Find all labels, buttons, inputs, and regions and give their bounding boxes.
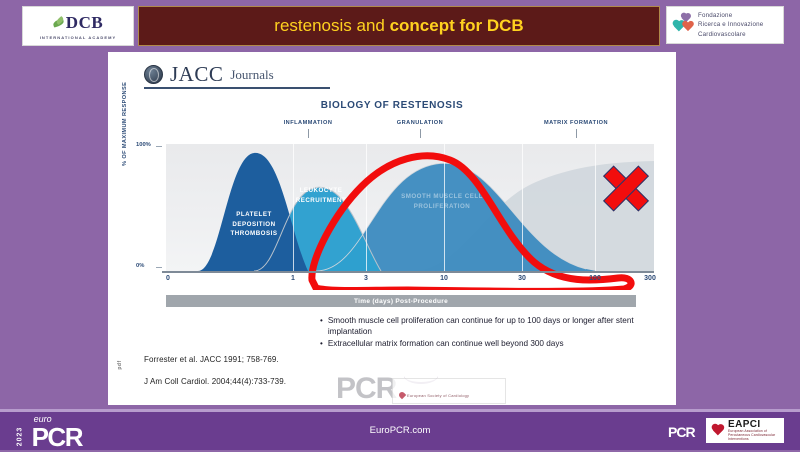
eapci-text: EAPCI European Association of Percutaneo… bbox=[728, 419, 784, 441]
curve-label-platelet: PLATELET DEPOSITION THROMBOSIS bbox=[212, 210, 296, 239]
fondazione-line-2: Ricerca e Innovazione bbox=[698, 20, 763, 29]
dcb-logo-text: DCB bbox=[66, 13, 103, 33]
footer-bar: 2023 euro PCR EuroPCR.com PCR EAPCI Euro… bbox=[0, 412, 800, 450]
phase-label-inflammation: INFLAMMATION bbox=[284, 120, 333, 126]
list-item: • Extracellular matrix formation can con… bbox=[320, 339, 650, 350]
phase-label-granulation: GRANULATION bbox=[397, 120, 443, 126]
y-tick-100: 100% bbox=[136, 142, 151, 148]
x-tick-0: 0 bbox=[166, 275, 170, 282]
phase-stem-granulation bbox=[420, 129, 421, 138]
esc-watermark: European Society of Cardiology bbox=[392, 378, 506, 404]
header-band: DCB INTERNATIONAL ACADEMY restenosis and… bbox=[0, 0, 800, 50]
fondazione-line-1: Fondazione bbox=[698, 11, 763, 20]
phase-label-matrix-formation: MATRIX FORMATION bbox=[544, 120, 608, 126]
fondazione-logo: Fondazione Ricerca e Innovazione Cardiov… bbox=[666, 6, 784, 44]
x-axis-title-bar: Time (days) Post-Procedure bbox=[166, 295, 636, 307]
slide-page: DCB INTERNATIONAL ACADEMY restenosis and… bbox=[0, 0, 800, 450]
x-tick-30: 30 bbox=[518, 275, 526, 282]
dcb-logo-subtitle: INTERNATIONAL ACADEMY bbox=[40, 35, 117, 40]
leaf-icon bbox=[53, 18, 65, 28]
globe-icon bbox=[144, 65, 163, 84]
x-tick-300: 300 bbox=[644, 275, 656, 282]
title-bold: concept for DCB bbox=[390, 16, 524, 35]
bullet-text: Extracellular matrix formation can conti… bbox=[328, 339, 564, 350]
eapci-subtitle: European Association of Percutaneous Car… bbox=[728, 430, 784, 441]
chart-figure: % OF MAXIMUM RESPONSE 100% 0% INFLAMMATI… bbox=[126, 130, 660, 305]
slide-title-bar: restenosis and concept for DCB bbox=[138, 6, 660, 46]
dcb-academy-logo: DCB INTERNATIONAL ACADEMY bbox=[22, 6, 134, 46]
fondazione-logo-text: Fondazione Ricerca e Innovazione Cardiov… bbox=[698, 11, 763, 39]
x-tick-3: 3 bbox=[364, 275, 368, 282]
phase-stem-inflammation bbox=[308, 129, 309, 138]
page-title: restenosis and concept for DCB bbox=[274, 16, 523, 36]
heart-icon bbox=[398, 391, 406, 399]
y-tick-0: 0% bbox=[136, 263, 144, 269]
bullet-list: • Smooth muscle cell proliferation can c… bbox=[320, 316, 650, 351]
y-tick-dash-top bbox=[156, 146, 162, 147]
pdf-watermark: pdf bbox=[117, 357, 143, 373]
citation-1: Forrester et al. JACC 1991; 758-769. bbox=[144, 355, 279, 364]
jacc-journals-brand: JACC Journals bbox=[144, 62, 274, 87]
heart-icon bbox=[711, 424, 724, 437]
bullet-text: Smooth muscle cell proliferation can con… bbox=[328, 316, 650, 338]
jacc-brand-sub: Journals bbox=[230, 67, 273, 83]
plot-area: PLATELET DEPOSITION THROMBOSIS LEUKOCYTE… bbox=[166, 144, 654, 271]
list-item: • Smooth muscle cell proliferation can c… bbox=[320, 316, 650, 338]
right-margin bbox=[676, 50, 800, 412]
x-tick-100: 100 bbox=[589, 275, 601, 282]
y-tick-dash-bottom bbox=[156, 267, 162, 268]
x-axis-title: Time (days) Post-Procedure bbox=[354, 298, 448, 305]
bullet-dot-icon: • bbox=[320, 316, 323, 338]
dcb-logo-row: DCB bbox=[53, 13, 103, 33]
phase-stem-matrix-formation bbox=[576, 129, 577, 138]
eapci-logo: EAPCI European Association of Percutaneo… bbox=[706, 418, 784, 443]
left-margin bbox=[0, 50, 108, 412]
x-tick-1: 1 bbox=[291, 275, 295, 282]
x-tick-10: 10 bbox=[440, 275, 448, 282]
fondazione-line-3: Cardiovascolare bbox=[698, 30, 763, 39]
pcr-small-logo: PCR bbox=[668, 424, 695, 440]
curve-label-smooth-muscle-cell: SMOOTH MUSCLE CELL PROLIFERATION bbox=[372, 192, 512, 211]
red-x-annotation bbox=[598, 160, 654, 216]
y-axis-title: % OF MAXIMUM RESPONSE bbox=[122, 46, 128, 166]
chart-title: BIOLOGY OF RESTENOSIS bbox=[108, 100, 676, 111]
jacc-brand-name: JACC bbox=[170, 62, 223, 87]
citation-2: J Am Coll Cardiol. 2004;44(4):733-739. bbox=[144, 377, 286, 386]
curve-label-leukocyte: LEUKOCYTE RECRUITMENT bbox=[278, 186, 364, 205]
title-plain: restenosis and bbox=[274, 16, 389, 35]
slide-content: JACC Journals BIOLOGY OF RESTENOSIS % OF… bbox=[108, 52, 676, 405]
x-axis-line bbox=[162, 271, 654, 273]
pcr-watermark: PCR bbox=[336, 372, 396, 406]
hearts-icon bbox=[672, 13, 694, 37]
brand-divider bbox=[144, 87, 330, 89]
esc-watermark-text: European Society of Cardiology bbox=[407, 393, 505, 398]
bullet-dot-icon: • bbox=[320, 339, 323, 350]
